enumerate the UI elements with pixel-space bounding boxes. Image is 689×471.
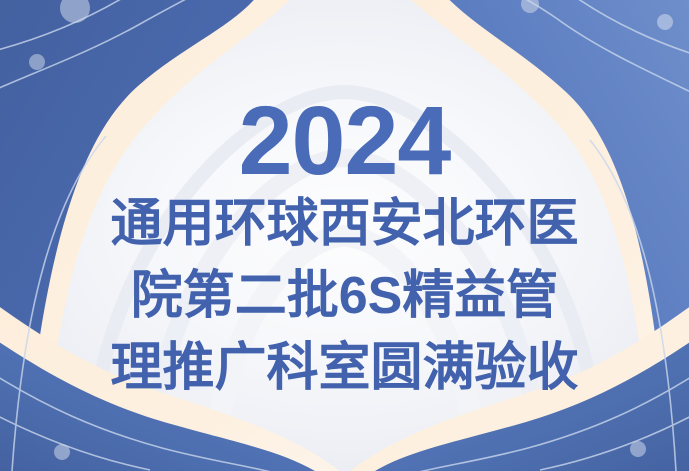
bokeh-dot xyxy=(54,444,70,460)
bokeh-dot xyxy=(630,441,646,457)
bokeh-dot xyxy=(29,54,45,70)
background-artwork xyxy=(0,0,689,471)
bokeh-dot xyxy=(657,14,673,30)
poster-canvas: 2024 通用环球西安北环医 院第二批6S精益管 理推广科室圆满验收 xyxy=(0,0,689,471)
